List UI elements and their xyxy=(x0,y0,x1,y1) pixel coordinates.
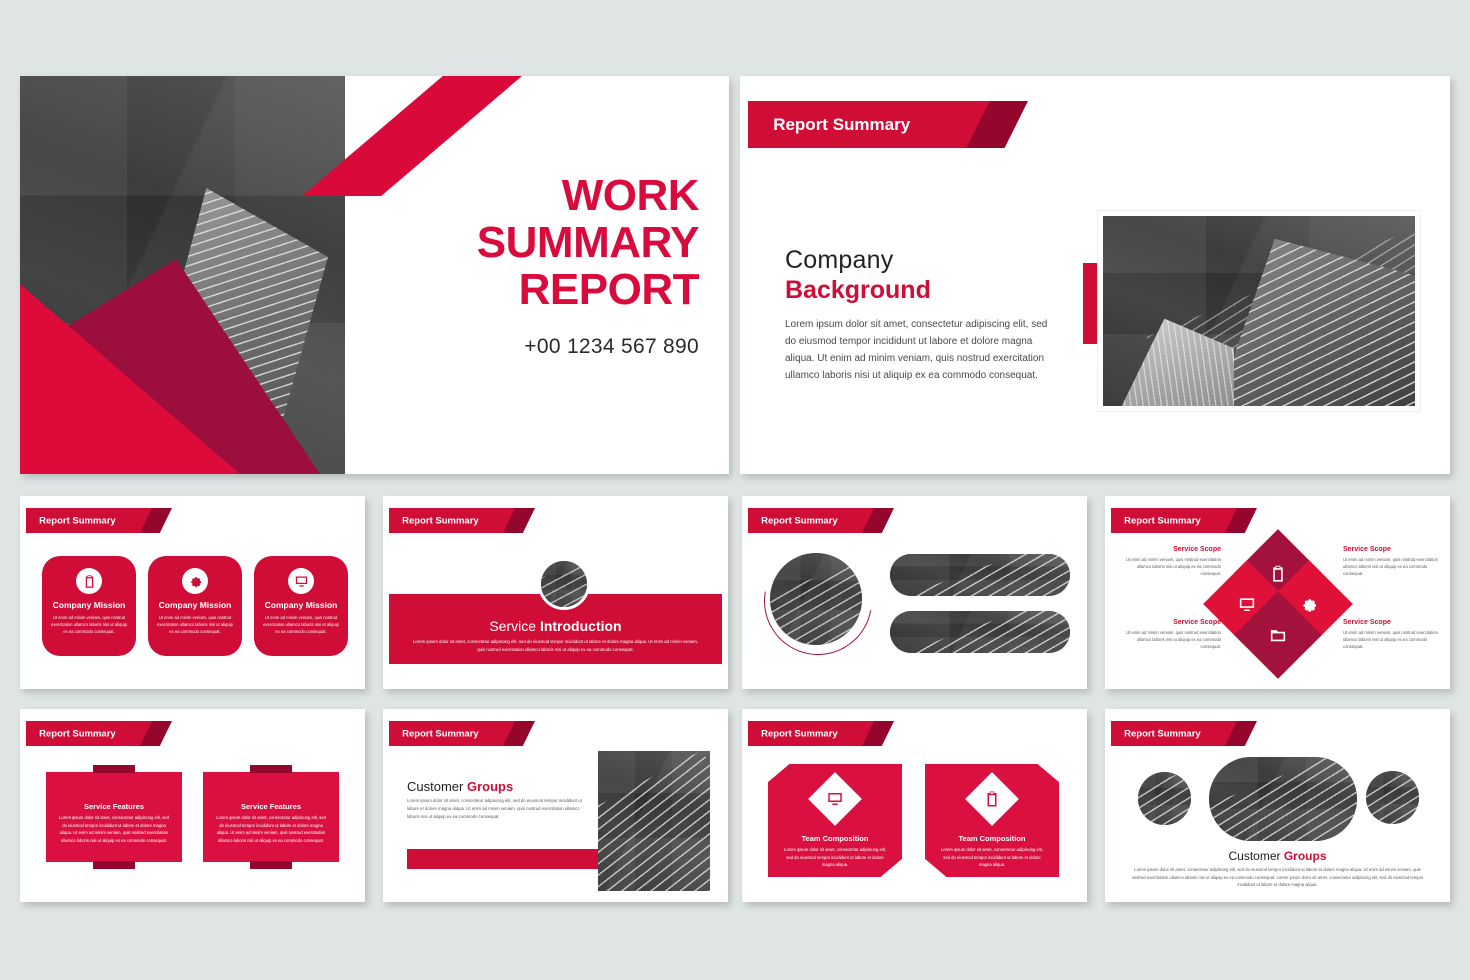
service-intro-title-light: Service xyxy=(489,618,540,634)
gear-icon xyxy=(1300,595,1319,614)
team-card[interactable]: Team Composition Lorem ipsum dolor sit a… xyxy=(925,764,1059,877)
report-summary-banner: Report Summary xyxy=(1111,721,1257,746)
title-line-3: REPORT xyxy=(369,266,699,313)
slide-company-background[interactable]: Report Summary Company Background Lorem … xyxy=(740,76,1450,474)
slide-team-composition[interactable]: Report Summary Team Composition Lorem ip… xyxy=(742,709,1087,902)
mission-card-title: Company Mission xyxy=(265,600,338,610)
feature-card-tab-bottom xyxy=(93,861,135,869)
mission-card-body: Ut enim ad minim veniam, quis nostrud ex… xyxy=(262,614,340,635)
customer-b-title: Customer Groups xyxy=(1105,849,1450,863)
banner-label: Report Summary xyxy=(39,728,116,739)
banner-label: Report Summary xyxy=(402,515,479,526)
clipboard-icon xyxy=(983,790,1001,808)
scope-label: Service Scope Ut enim ad minim veniam, q… xyxy=(1343,546,1439,577)
feature-card[interactable]: Service Features Lorem ipsum dolor sit a… xyxy=(46,772,182,862)
banner-label: Report Summary xyxy=(402,728,479,739)
report-summary-banner: Report Summary xyxy=(389,508,535,533)
service-intro-body: Lorem ipsum dolor sit amet, consectetur … xyxy=(409,638,702,654)
title-line-2: SUMMARY xyxy=(369,219,699,266)
gear-icon xyxy=(182,568,208,594)
report-summary-banner: Report Summary xyxy=(748,508,894,533)
slide-title[interactable]: WORK SUMMARY REPORT +00 1234 567 890 xyxy=(20,76,729,474)
feature-card-tab-top xyxy=(93,765,135,773)
service-intro-title: Service Introduction xyxy=(383,618,728,634)
scope-label: Service Scope Ut enim ad minim veniam, q… xyxy=(1343,619,1439,650)
monitor-icon xyxy=(288,568,314,594)
customer-a-building-photo xyxy=(598,751,710,891)
background-heading-top: Company xyxy=(785,246,893,275)
banner-label: Report Summary xyxy=(773,115,910,135)
monitor-icon xyxy=(826,790,844,808)
mission-card-title: Company Mission xyxy=(159,600,232,610)
scope-label-body: Ut enim ad minim veniam, quis nostrud ex… xyxy=(1343,556,1439,577)
mission-card-body: Ut enim ad minim veniam, quis nostrud ex… xyxy=(156,614,234,635)
feature-card-body: Lorem ipsum dolor sit amet, consectetur … xyxy=(215,814,327,844)
slide-service-features[interactable]: Report Summary Service Features Lorem ip… xyxy=(20,709,365,902)
scope-decorative-ring xyxy=(743,526,893,676)
customer-a-title: Customer Groups xyxy=(407,779,513,794)
team-card-icon-diamond xyxy=(808,772,862,826)
slide-service-introduction[interactable]: Report Summary Service Introduction Lore… xyxy=(383,496,728,689)
customer-b-body: Lorem ipsum dolor sit amet, consectetur … xyxy=(1131,866,1424,889)
mission-card-title: Company Mission xyxy=(53,600,126,610)
clipboard-icon xyxy=(76,568,102,594)
scope-label-body: Ut enim ad minim veniam, quis nostrud ex… xyxy=(1125,629,1221,650)
slide-company-mission[interactable]: Report Summary Company Mission Ut enim a… xyxy=(20,496,365,689)
report-summary-banner: Report Summary xyxy=(748,101,1028,148)
feature-card-title: Service Features xyxy=(46,802,182,811)
customer-a-title-light: Customer xyxy=(407,779,467,794)
slide-customer-groups-a[interactable]: Report Summary Customer Groups Lorem ips… xyxy=(383,709,728,902)
scope-label-title: Service Scope xyxy=(1343,619,1439,626)
diamond-cluster xyxy=(1219,544,1337,664)
mission-card[interactable]: Company Mission Ut enim ad minim veniam,… xyxy=(254,556,348,656)
scope-pill[interactable]: Service Scope Ut enim ad minim veniam, q… xyxy=(890,611,1070,653)
scope-label: Service Scope Ut enim ad minim veniam, q… xyxy=(1125,619,1221,650)
mission-card-row: Company Mission Ut enim ad minim veniam,… xyxy=(42,556,348,656)
customer-a-title-bold: Groups xyxy=(467,779,513,794)
feature-card-body: Lorem ipsum dolor sit amet, consectetur … xyxy=(58,814,170,844)
customer-a-body: Lorem ipsum dolor sit amet, consectetur … xyxy=(407,797,582,821)
banner-label: Report Summary xyxy=(1124,515,1201,526)
customer-b-title-light: Customer xyxy=(1228,849,1283,863)
scope-pill-thumbnail xyxy=(890,554,932,596)
feature-card-tab-bottom xyxy=(250,861,292,869)
team-card-icon-diamond xyxy=(965,772,1019,826)
service-intro-title-bold: Introduction xyxy=(540,618,622,634)
background-body-text: Lorem ipsum dolor sit amet, consectetur … xyxy=(785,316,1050,384)
mission-card[interactable]: Company Mission Ut enim ad minim veniam,… xyxy=(42,556,136,656)
scope-label-title: Service Scope xyxy=(1343,546,1439,553)
team-card-body: Lorem ipsum dolor sit amet, consectetur … xyxy=(939,846,1045,869)
scope-label-title: Service Scope xyxy=(1125,546,1221,553)
title-text-block: WORK SUMMARY REPORT +00 1234 567 890 xyxy=(369,172,699,359)
customer-b-photo-right xyxy=(1366,771,1419,824)
background-building-photo xyxy=(1098,211,1420,411)
presentation-template-deck: WORK SUMMARY REPORT +00 1234 567 890 Rep… xyxy=(0,0,1470,980)
banner-label: Report Summary xyxy=(39,515,116,526)
service-intro-circle-photo xyxy=(538,558,590,610)
team-card-title: Team Composition xyxy=(925,834,1059,843)
scope-pill[interactable]: Service Scope Ut enim ad minim veniam, q… xyxy=(890,554,1070,596)
scope-label-title: Service Scope xyxy=(1125,619,1221,626)
scope-label: Service Scope Ut enim ad minim veniam, q… xyxy=(1125,546,1221,577)
banner-label: Report Summary xyxy=(761,728,838,739)
slide-customer-groups-b[interactable]: Report Summary Customer Groups Lorem ips… xyxy=(1105,709,1450,902)
customer-b-photo-center xyxy=(1209,757,1357,841)
monitor-icon xyxy=(1238,595,1257,614)
scope-label-body: Ut enim ad minim veniam, quis nostrud ex… xyxy=(1125,556,1221,577)
mission-card-body: Ut enim ad minim veniam, quis nostrud ex… xyxy=(50,614,128,635)
team-card-body: Lorem ipsum dolor sit amet, consectetur … xyxy=(782,846,888,869)
report-summary-banner: Report Summary xyxy=(389,721,535,746)
title-line-1: WORK xyxy=(369,172,699,219)
customer-b-photo-left xyxy=(1138,772,1191,825)
scope-pill-thumbnail xyxy=(890,611,932,653)
feature-card-tab-top xyxy=(250,765,292,773)
customer-a-red-bar xyxy=(407,849,615,869)
background-heading-bottom: Background xyxy=(785,276,931,305)
report-summary-banner: Report Summary xyxy=(26,508,172,533)
scope-label-body: Ut enim ad minim veniam, quis nostrud ex… xyxy=(1343,629,1439,650)
clipboard-icon xyxy=(1269,564,1288,583)
banner-label: Report Summary xyxy=(761,515,838,526)
slide-service-scope-circle[interactable]: Report Summary Service Scope Ut enim ad … xyxy=(742,496,1087,689)
team-card-title: Team Composition xyxy=(768,834,902,843)
folder-icon xyxy=(1269,626,1288,645)
title-phone-number: +00 1234 567 890 xyxy=(369,335,699,359)
feature-card[interactable]: Service Features Lorem ipsum dolor sit a… xyxy=(203,772,339,862)
report-summary-banner: Report Summary xyxy=(26,721,172,746)
mission-card[interactable]: Company Mission Ut enim ad minim veniam,… xyxy=(148,556,242,656)
slide-service-scope-diamond[interactable]: Report Summary Service Scope Ut enim ad … xyxy=(1105,496,1450,689)
report-summary-banner: Report Summary xyxy=(748,721,894,746)
feature-card-title: Service Features xyxy=(203,802,339,811)
customer-b-title-bold: Groups xyxy=(1284,849,1327,863)
banner-label: Report Summary xyxy=(1124,728,1201,739)
team-card[interactable]: Team Composition Lorem ipsum dolor sit a… xyxy=(768,764,902,877)
report-summary-banner: Report Summary xyxy=(1111,508,1257,533)
